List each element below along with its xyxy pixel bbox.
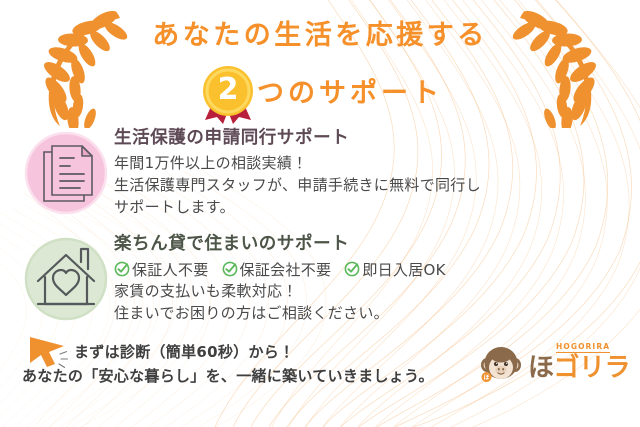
support-item-welfare: 生活保護の申請同行サポート 年間1万件以上の相談実績！ 生活保護専門スタッフが、… [22,125,640,223]
medal-number: 2 [197,62,259,124]
logo-kana-ho: ほ [528,353,554,383]
support-item-housing-body: 楽ちん貸で住まいのサポート 保証人不要 保 [114,231,640,325]
support-list: 生活保護の申請同行サポート 年間1万件以上の相談実績！ 生活保護専門スタッフが、… [0,125,640,329]
benefit-label: 保証会社不要 [240,259,332,280]
logo-kana-text: ほゴリラ [528,355,630,381]
support-item-housing-title: 楽ちん貸で住まいのサポート [114,234,640,256]
document-stack-icon [22,125,114,223]
logo-romaji-text: HOGORIRA [556,343,610,353]
promo-poster: あなたの生活を応援する 2 つのサポート [0,0,640,427]
support-item-welfare-body: 生活保護の申請同行サポート 年間1万件以上の相談実績！ 生活保護専門スタッフが、… [114,125,640,219]
housing-benefit-list: 保証人不要 保証会社不要 即日入居OK [114,259,640,280]
footer-cta-line-2: あなたの「安心な暮らし」を、一緒に築いていきましょう。 [22,365,434,386]
benefit-item: 保証人不要 [114,259,209,280]
support-item-housing-line-2: 住まいでお困りの方はご相談ください。 [114,303,640,325]
poster-footer: まずは診断（簡単60秒）から！ あなたの「安心な暮らし」を、一緒に築いていきまし… [0,329,640,401]
subline-row: 2 つのサポート [0,62,640,124]
medal-badge: 2 [197,62,259,124]
logo-kana-gorira: ゴリラ [553,353,630,383]
house-heart-icon [22,231,114,329]
benefit-label: 即日入居OK [362,259,445,280]
benefit-label: 保証人不要 [132,259,209,280]
support-item-welfare-line-2: 生活保護専門スタッフが、申請手続きに無料で同行し [114,175,640,197]
benefit-item: 即日入居OK [344,259,445,280]
headline-text: あなたの生活を応援する [0,22,640,49]
support-item-housing-line-1: 家賃の支払いも柔軟対応！ [114,281,640,303]
brand-logo[interactable]: ほ HOGORIRA ほゴリラ [478,337,630,389]
support-item-welfare-title: 生活保護の申請同行サポート [114,128,640,150]
gorilla-mascot-icon: ほ [478,340,524,386]
subline-text: つのサポート [257,80,443,107]
support-item-welfare-line-1: 年間1万件以上の相談実績！ [114,153,640,175]
footer-cta-line-1: まずは診断（簡単60秒）から！ [74,341,294,362]
support-item-housing: 楽ちん貸で住まいのサポート 保証人不要 保 [22,231,640,329]
check-circle-icon [222,261,238,277]
check-circle-icon [344,261,360,277]
benefit-item: 保証会社不要 [222,259,332,280]
svg-text:ほ: ほ [483,375,489,382]
logo-wordmark: HOGORIRA ほゴリラ [528,340,630,386]
poster-header: あなたの生活を応援する 2 つのサポート [0,0,640,125]
check-circle-icon [114,261,130,277]
support-item-welfare-line-3: サポートします。 [114,197,640,219]
